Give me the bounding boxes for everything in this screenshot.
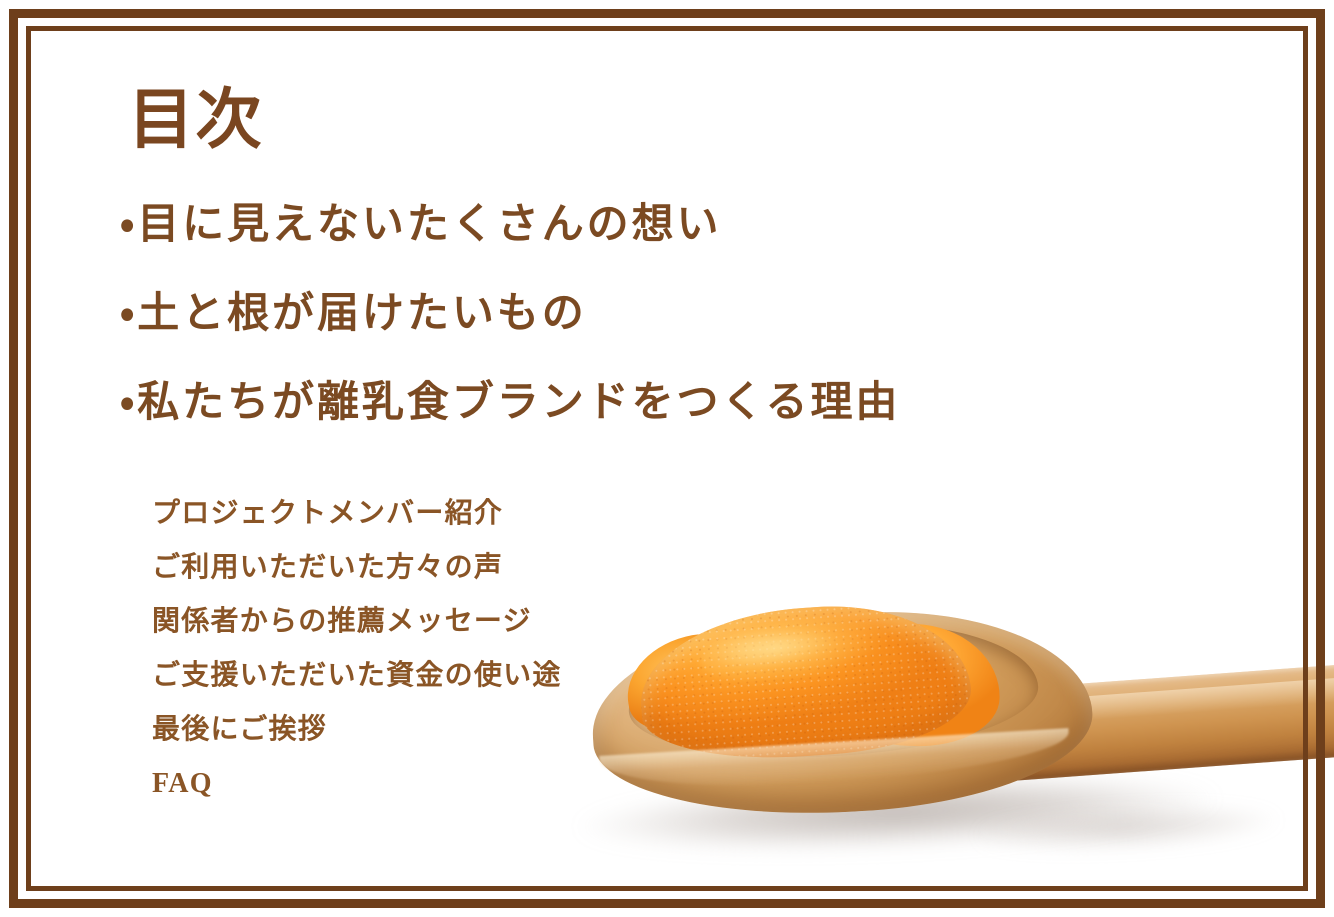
page-title: 目次 (128, 88, 263, 154)
toc-sub-item[interactable]: ご利用いただいた方々の声 (152, 554, 562, 582)
toc-bullet: ・ (120, 291, 137, 337)
toc-bullet: ・ (120, 202, 137, 248)
toc-main-item-label: 土と根が届けたいもの (137, 291, 586, 337)
toc-bullet: ・ (120, 380, 137, 426)
toc-sub-item[interactable]: プロジェクトメンバー紹介 (152, 500, 562, 528)
toc-sub-item[interactable]: ご支援いただいた資金の使い途 (152, 662, 562, 690)
toc-sub-item[interactable]: FAQ (152, 770, 562, 798)
toc-main-item-label: 私たちが離乳食ブランドをつくる理由 (137, 380, 900, 426)
toc-page: 目次 ・目に見えないたくさんの想い ・土と根が届けたいもの ・私たちが離乳食ブラ… (0, 0, 1334, 917)
toc-sub-item[interactable]: 関係者からの推薦メッセージ (152, 608, 562, 636)
toc-main-item[interactable]: ・目に見えないたくさんの想い (120, 204, 900, 246)
toc-main-list: ・目に見えないたくさんの想い ・土と根が届けたいもの ・私たちが離乳食ブランドを… (120, 204, 900, 424)
toc-main-item[interactable]: ・土と根が届けたいもの (120, 293, 900, 335)
toc-sub-item[interactable]: 最後にご挨拶 (152, 716, 562, 744)
toc-main-item-label: 目に見えないたくさんの想い (137, 202, 721, 248)
toc-sub-list: プロジェクトメンバー紹介 ご利用いただいた方々の声 関係者からの推薦メッセージ … (152, 500, 562, 798)
toc-main-item[interactable]: ・私たちが離乳食ブランドをつくる理由 (120, 382, 900, 424)
toc-content: 目次 ・目に見えないたくさんの想い ・土と根が届けたいもの ・私たちが離乳食ブラ… (0, 0, 1334, 917)
